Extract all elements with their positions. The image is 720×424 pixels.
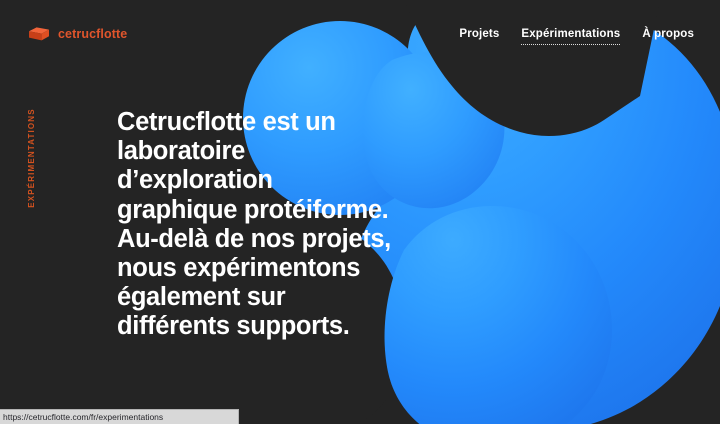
- vertical-section-label-text: EXPÉRIMENTATIONS: [28, 108, 36, 207]
- heading-line: graphique protéiforme.: [117, 196, 447, 225]
- heading-line: nous expérimentons: [117, 254, 447, 283]
- nav-link-projets[interactable]: Projets: [459, 29, 499, 44]
- heading-line: Cetrucflotte est un: [117, 108, 447, 137]
- heading-line: d’exploration: [117, 166, 447, 195]
- hero-block: Cetrucflotte est un laboratoire d’explor…: [117, 108, 447, 342]
- brick-box-icon: [28, 24, 50, 44]
- heading-line: également sur: [117, 283, 447, 312]
- site-header: cetrucflotte Projets Expérimentations À …: [0, 0, 720, 60]
- heading-line: Au-delà de nos projets,: [117, 225, 447, 254]
- brand-name: cetrucflotte: [58, 28, 127, 41]
- browser-status-bar: https://cetrucflotte.com/fr/experimentat…: [0, 409, 239, 424]
- nav-link-a-propos[interactable]: À propos: [642, 29, 694, 44]
- heading-line: laboratoire: [117, 137, 447, 166]
- heading-line: différents supports.: [117, 312, 447, 341]
- brand-logo-link[interactable]: cetrucflotte: [28, 24, 127, 44]
- main-nav: Projets Expérimentations À propos: [459, 29, 694, 45]
- browser-viewport: cetrucflotte Projets Expérimentations À …: [0, 0, 720, 424]
- vertical-section-label: EXPÉRIMENTATIONS: [26, 110, 38, 206]
- nav-link-experimentations[interactable]: Expérimentations: [521, 29, 620, 45]
- status-bar-url: https://cetrucflotte.com/fr/experimentat…: [0, 413, 163, 422]
- page-title: Cetrucflotte est un laboratoire d’explor…: [117, 108, 447, 342]
